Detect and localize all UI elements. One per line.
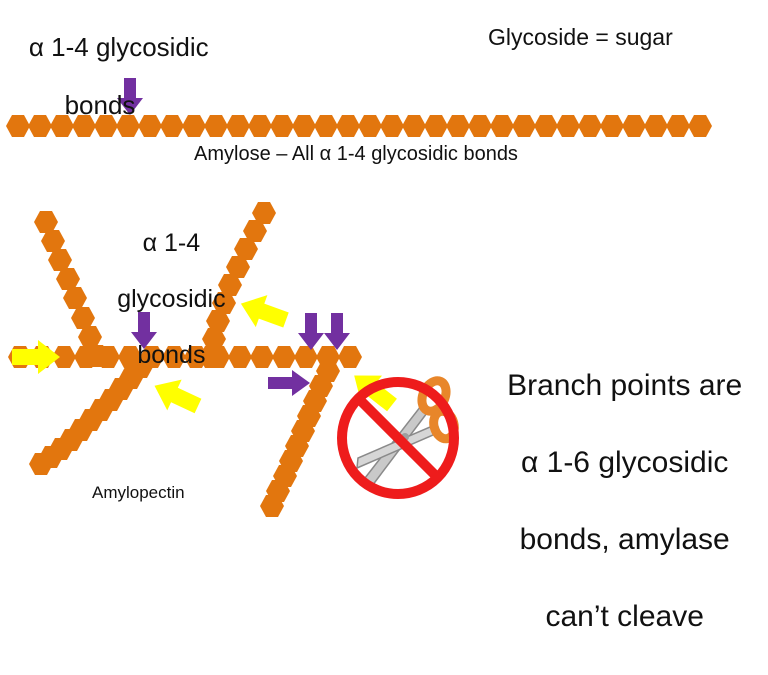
label-amylopectin-caption: Amylopectin: [92, 483, 185, 502]
label-branch-line1: Branch points are: [507, 369, 742, 402]
label-alpha-1-4-top: α 1-4 glycosidic bonds: [0, 4, 200, 179]
label-alpha-1-4-top-line2: bonds: [0, 91, 200, 120]
purple-arrow-horizontal: [268, 370, 310, 396]
yellow-arrow-left: [12, 340, 60, 374]
label-branch-line3: bonds, amylase: [520, 523, 730, 556]
label-alpha-1-4-top-line1: α 1-4 glycosidic: [29, 32, 209, 62]
label-amylose-caption: Amylose – All α 1-4 glycosidic bonds: [194, 143, 518, 165]
label-glycoside-equals-sugar: Glycoside = sugar: [488, 25, 673, 51]
label-alpha-1-4-middle: α 1-4 glycosidic bonds: [60, 201, 255, 397]
label-alpha-1-4-middle-line3: bonds: [137, 341, 205, 369]
label-branch-line2: α 1-6 glycosidic: [521, 446, 728, 479]
slide-canvas: α 1-4 glycosidic bonds Glycoside = sugar…: [0, 0, 768, 522]
label-branch-line4: can’t cleave: [545, 600, 703, 633]
label-alpha-1-4-middle-line1: α 1-4: [143, 229, 201, 257]
purple-arrow-branch-1: [298, 313, 324, 350]
no-scissors-symbol: [342, 377, 457, 494]
purple-arrow-branch-2: [324, 313, 350, 350]
label-branch-points: Branch points are α 1-6 glycosidic bonds…: [452, 329, 764, 675]
label-alpha-1-4-middle-line2: glycosidic: [117, 285, 225, 313]
